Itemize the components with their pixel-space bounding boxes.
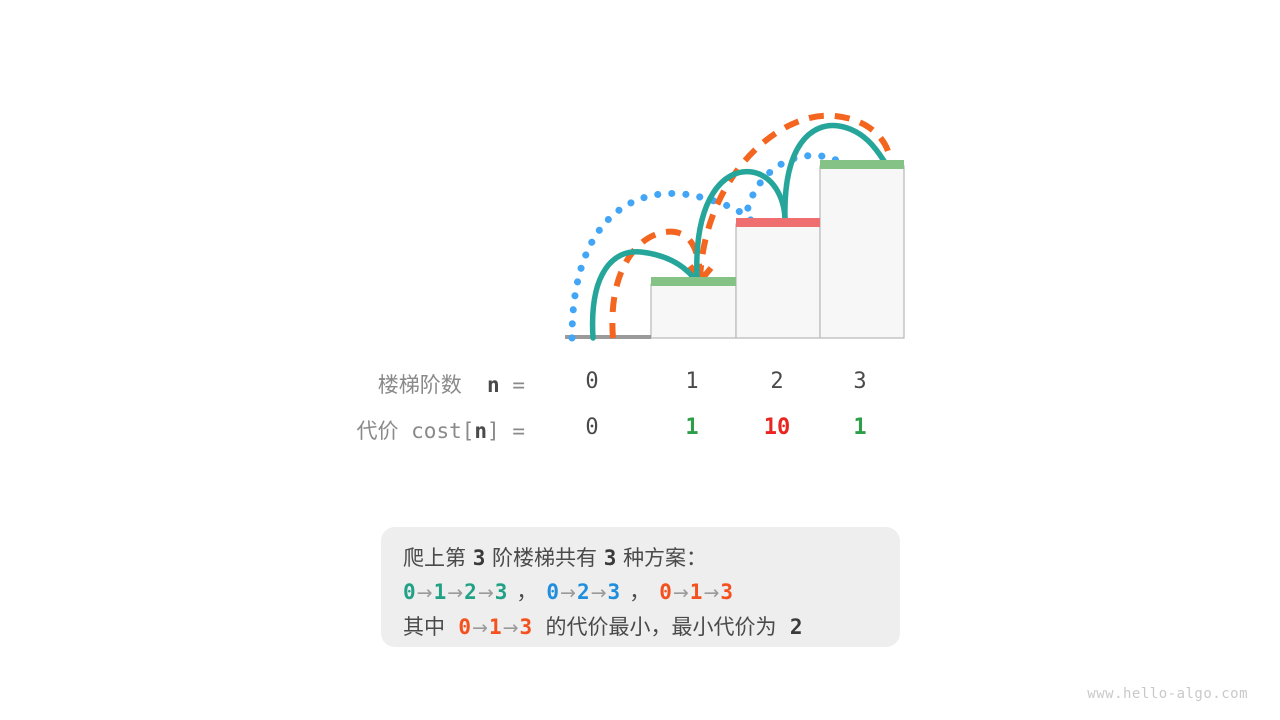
arrow-icon: → <box>702 582 720 604</box>
table-row: 代价 cost[n] = 0 1 10 1 <box>0 411 1280 457</box>
caption-line1-post: 种方案： <box>623 546 707 570</box>
step-cap-3-green <box>820 160 904 169</box>
step-body-2 <box>736 224 820 338</box>
diagram-stage: 楼梯阶数 n = 0 1 2 3 代价 cost[n] = 0 1 10 1 爬… <box>0 0 1280 720</box>
caption-min-cost: 2 <box>790 615 803 639</box>
cell-n-2: 2 <box>747 369 807 394</box>
table-row: 楼梯阶数 n = 0 1 2 3 <box>0 365 1280 411</box>
row-label-cost-text: 代价 <box>357 419 399 443</box>
arrow-icon: → <box>471 617 489 639</box>
path3-node-1: 1 <box>690 580 703 604</box>
cell-n-0: 0 <box>562 369 622 394</box>
step-body-1 <box>651 284 736 338</box>
path2-node-0: 0 <box>546 580 559 604</box>
row-label-n-eq: = <box>512 373 525 397</box>
path3-node-0: 0 <box>659 580 672 604</box>
row-label-cost-eq: = <box>512 419 525 443</box>
cell-cost-3: 1 <box>830 415 890 440</box>
path1-node-2: 2 <box>464 580 477 604</box>
caption-line3-mid: 的代价最小，最小代价为 <box>546 615 777 639</box>
step-cap-2-red <box>736 218 820 227</box>
row-label-cost-post: ] <box>487 419 500 443</box>
arrow-icon: → <box>590 582 608 604</box>
caption-line3-pre: 其中 <box>403 615 445 639</box>
row-label-cost-pre: cost[ <box>411 419 474 443</box>
caption-line-2: 0→1→2→3，0→2→3，0→1→3 <box>403 575 900 610</box>
path2-node-2: 3 <box>608 580 621 604</box>
caption-line1-mid: 阶楼梯共有 <box>492 546 597 570</box>
caption-separator: ， <box>507 580 546 604</box>
arrow-icon: → <box>559 582 577 604</box>
caption-line1-count: 3 <box>604 546 617 570</box>
value-table: 楼梯阶数 n = 0 1 2 3 代价 cost[n] = 0 1 10 1 <box>0 365 1280 457</box>
path3-node-2: 3 <box>720 580 733 604</box>
path1-node-3: 3 <box>495 580 508 604</box>
arrow-icon: → <box>672 582 690 604</box>
cell-cost-2: 10 <box>747 415 807 440</box>
cell-cost-1: 1 <box>662 415 722 440</box>
baseline-step-0 <box>565 335 651 339</box>
arrow-icon: → <box>502 617 520 639</box>
arrow-icon: → <box>416 582 434 604</box>
minpath-node-2: 3 <box>520 615 533 639</box>
arrow-icon: → <box>477 582 495 604</box>
row-label-n: 楼梯阶数 n = <box>300 369 525 399</box>
caption-box: 爬上第 3 阶楼梯共有 3 种方案： 0→1→2→3，0→2→3，0→1→3 其… <box>381 527 900 647</box>
arrow-icon: → <box>446 582 464 604</box>
step-cap-1-green <box>651 277 736 286</box>
path2-node-1: 2 <box>577 580 590 604</box>
watermark: www.hello-algo.com <box>1087 686 1248 702</box>
caption-line1-n: 3 <box>473 546 486 570</box>
cell-n-1: 1 <box>662 369 722 394</box>
minpath-node-1: 1 <box>489 615 502 639</box>
minpath-node-0: 0 <box>458 615 471 639</box>
path1-node-1: 1 <box>434 580 447 604</box>
row-label-cost-var: n <box>474 419 487 443</box>
cell-n-3: 3 <box>830 369 890 394</box>
caption-line1-pre: 爬上第 <box>403 546 466 570</box>
cell-cost-0: 0 <box>562 415 622 440</box>
step-body-3 <box>820 166 904 338</box>
caption-line-3: 其中 0→1→3 的代价最小，最小代价为 2 <box>403 610 900 645</box>
row-label-cost: 代价 cost[n] = <box>300 415 525 445</box>
path1-node-0: 0 <box>403 580 416 604</box>
caption-line-1: 爬上第 3 阶楼梯共有 3 种方案： <box>403 541 900 575</box>
row-label-n-text: 楼梯阶数 <box>378 373 462 397</box>
row-label-n-var: n <box>487 373 500 397</box>
caption-separator: ， <box>620 580 659 604</box>
